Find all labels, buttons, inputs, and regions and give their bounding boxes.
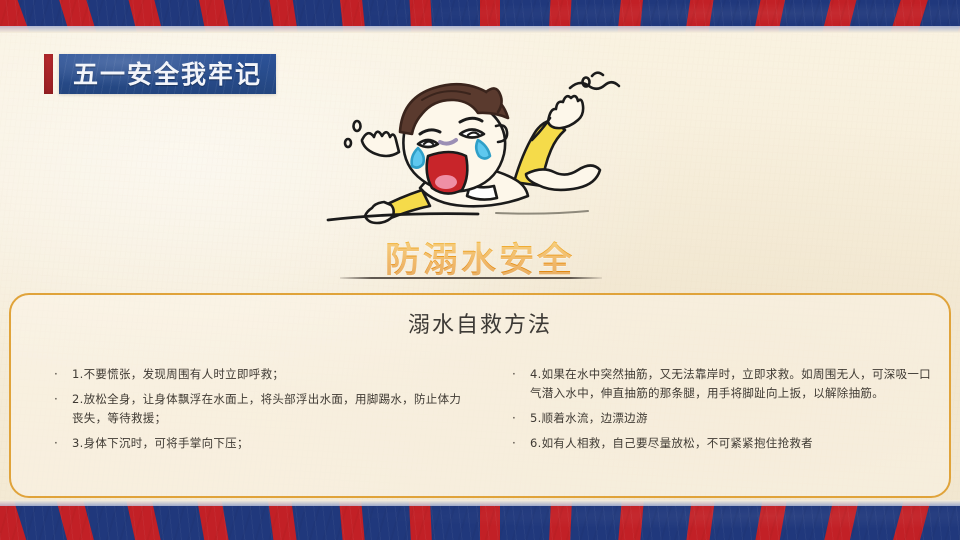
list-item-text: 6.如有人相救，自己要尽量放松，不可紧紧抱住抢救者	[530, 434, 813, 453]
bottom-striped-banner	[0, 500, 960, 540]
bullet-column-right: · 4.如果在水中突然抽筋，又无法靠岸时，立即求救。如周围无人，可深吸一口气潜入…	[480, 365, 951, 475]
list-item-text: 1.不要慌张，发现周围有人时立即呼救；	[72, 365, 284, 384]
list-item: · 5.顺着水流，边漂边游	[512, 409, 933, 428]
bullet-dot: ·	[54, 365, 72, 384]
list-item: · 1.不要慌张，发现周围有人时立即呼救；	[54, 365, 466, 384]
list-item: · 4.如果在水中突然抽筋，又无法靠岸时，立即求救。如周围无人，可深吸一口气潜入…	[512, 365, 933, 403]
top-striped-banner	[0, 0, 960, 33]
main-title: 防溺水安全	[0, 232, 960, 283]
top-banner-fade	[0, 26, 960, 33]
list-item-text: 4.如果在水中突然抽筋，又无法靠岸时，立即求救。如周围无人，可深吸一口气潜入水中…	[530, 365, 933, 403]
list-item-text: 3.身体下沉时，可将手掌向下压；	[72, 434, 249, 453]
list-item-text: 5.顺着水流，边漂边游	[530, 409, 648, 428]
red-accent-bar	[44, 54, 53, 94]
main-title-underline	[340, 277, 602, 279]
bullet-dot: ·	[54, 390, 72, 428]
header-title-box: 五一安全我牢记	[59, 54, 276, 94]
list-item: · 2.放松全身，让身体飘浮在水面上，将头部浮出水面，用脚踢水，防止体力丧失，等…	[54, 390, 466, 428]
section-heading: 溺水自救方法	[0, 307, 960, 339]
bullet-columns: · 1.不要慌张，发现周围有人时立即呼救； · 2.放松全身，让身体飘浮在水面上…	[9, 365, 951, 475]
list-item-text: 2.放松全身，让身体飘浮在水面上，将头部浮出水面，用脚踢水，防止体力丧失，等待救…	[72, 390, 466, 428]
drowning-boy-illustration	[300, 70, 660, 235]
section-heading-text: 溺水自救方法	[408, 313, 552, 338]
bottom-banner-fade	[0, 500, 960, 506]
bullet-column-left: · 1.不要慌张，发现周围有人时立即呼救； · 2.放松全身，让身体飘浮在水面上…	[9, 365, 480, 475]
header-title-text: 五一安全我牢记	[73, 55, 262, 91]
bullet-dot: ·	[512, 365, 530, 403]
bullet-dot: ·	[54, 434, 72, 453]
bullet-dot: ·	[512, 434, 530, 453]
slide-background: 五一安全我牢记	[0, 0, 960, 540]
main-title-text: 防溺水安全	[385, 241, 575, 281]
list-item: · 3.身体下沉时，可将手掌向下压；	[54, 434, 466, 453]
bottom-banner-texture	[0, 500, 960, 540]
header-title-block: 五一安全我牢记	[44, 54, 276, 94]
list-item: · 6.如有人相救，自己要尽量放松，不可紧紧抱住抢救者	[512, 434, 933, 453]
bullet-dot: ·	[512, 409, 530, 428]
